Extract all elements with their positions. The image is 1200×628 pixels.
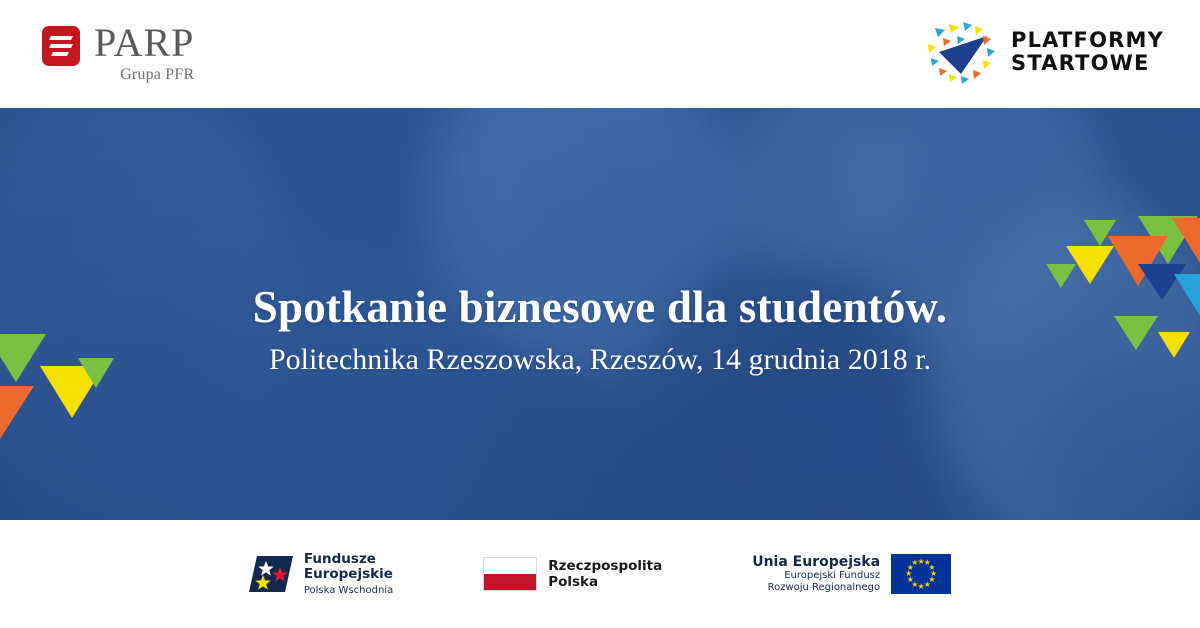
parp-wordmark: PARP Grupa PFR: [94, 22, 194, 84]
rp-line1: Rzeczpospolita: [548, 558, 662, 574]
eu-line1: Unia Europejska: [752, 554, 880, 570]
fe-line3: Polska Wschodnia: [304, 584, 393, 597]
eu-flag-icon: ★★★★★★★★★★★★: [891, 554, 951, 594]
paper-plane-confetti-icon: [925, 18, 1001, 86]
fe-line2: Europejskie: [304, 567, 393, 582]
parp-red-stripes-icon: [42, 26, 80, 66]
hero-banner: Spotkanie biznesowe dla studentów. Polit…: [0, 108, 1200, 520]
hero-subtitle: Politechnika Rzeszowska, Rzeszów, 14 gru…: [269, 340, 931, 380]
parp-subtitle: Grupa PFR: [94, 66, 194, 84]
parp-logo[interactable]: PARP Grupa PFR: [42, 22, 194, 84]
eu-star: ★: [918, 583, 925, 591]
logo-rzeczpospolita-polska: Rzeczpospolita Polska: [483, 557, 662, 591]
footer-logo-bar: Fundusze Europejskie Polska Wschodnia Rz…: [0, 520, 1200, 628]
eu-line2: Europejski Fundusz: [752, 570, 880, 583]
fundusze-europejskie-text: Fundusze Europejskie Polska Wschodnia: [304, 552, 393, 597]
platformy-startowe-label: PLATFORMY STARTOWE: [1011, 29, 1164, 75]
eu-star: ★: [911, 559, 918, 567]
parp-name: PARP: [94, 22, 194, 64]
platformy-startowe-logo[interactable]: PLATFORMY STARTOWE: [925, 18, 1164, 86]
rp-line2: Polska: [548, 574, 662, 590]
eu-star: ★: [924, 581, 931, 589]
fundusze-europejskie-stars-icon: [249, 552, 293, 596]
eu-line3: Rozwoju Regionalnego: [752, 582, 880, 595]
logo-fundusze-europejskie: Fundusze Europejskie Polska Wschodnia: [249, 552, 393, 597]
unia-europejska-text: Unia Europejska Europejski Fundusz Rozwo…: [752, 554, 880, 595]
header-bar: PARP Grupa PFR: [0, 0, 1200, 108]
promo-banner: PARP Grupa PFR: [0, 0, 1200, 628]
polish-flag-icon: [483, 557, 537, 591]
hero-title: Spotkanie biznesowe dla studentów.: [253, 280, 947, 334]
logo-unia-europejska: Unia Europejska Europejski Fundusz Rozwo…: [752, 554, 951, 595]
fe-line1: Fundusze: [304, 552, 393, 567]
hero-copy: Spotkanie biznesowe dla studentów. Polit…: [0, 108, 1200, 520]
rzeczpospolita-polska-text: Rzeczpospolita Polska: [548, 558, 662, 590]
